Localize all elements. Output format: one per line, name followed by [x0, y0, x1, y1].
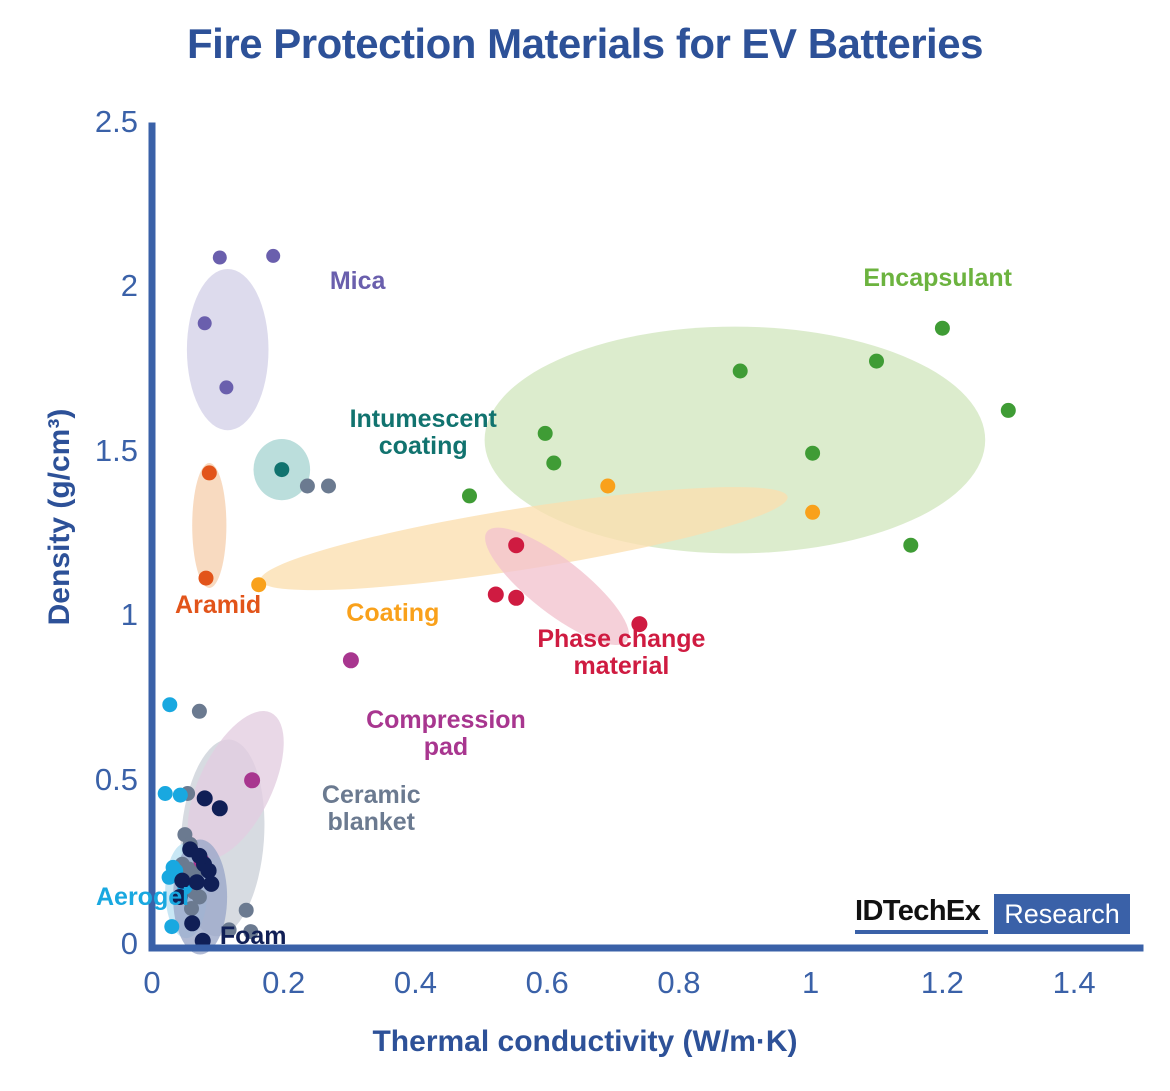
data-point[interactable] — [1001, 403, 1016, 418]
data-point[interactable] — [805, 505, 820, 520]
data-point[interactable] — [546, 456, 561, 471]
cluster-ellipse — [192, 463, 226, 588]
cluster-label-compression-pad: Compressionpad — [366, 707, 526, 761]
data-point[interactable] — [162, 697, 177, 712]
data-point[interactable] — [201, 863, 217, 879]
data-point[interactable] — [935, 321, 950, 336]
logo-brand-text: IDTechEx — [855, 894, 988, 934]
data-point[interactable] — [239, 903, 254, 918]
data-point[interactable] — [158, 786, 173, 801]
data-point[interactable] — [600, 479, 615, 494]
data-point[interactable] — [212, 800, 228, 816]
x-axis-tick: 0.8 — [629, 965, 729, 1001]
cluster-label-intumescent-coating: Intumescentcoating — [350, 406, 497, 460]
y-axis-tick: 2 — [20, 268, 138, 304]
cluster-label-line: blanket — [322, 809, 421, 836]
x-axis-tick: 1.2 — [892, 965, 992, 1001]
cluster-label-line: Ceramic — [322, 782, 421, 809]
cluster-label-foam: Foam — [220, 923, 287, 950]
cluster-label-aerogel: Aerogel — [96, 884, 189, 911]
x-axis-tick: 1.4 — [1024, 965, 1124, 1001]
cluster-label-line: coating — [350, 433, 497, 460]
cluster-label-line: Coating — [346, 600, 439, 627]
data-point[interactable] — [343, 652, 359, 668]
cluster-label-line: material — [537, 653, 705, 680]
x-axis-tick: 1 — [761, 965, 861, 1001]
idtechex-logo: IDTechEx Research — [855, 894, 1130, 934]
y-axis-tick: 0.5 — [20, 762, 138, 798]
cluster-label-line: Mica — [330, 268, 386, 295]
chart-root: Fire Protection Materials for EV Batteri… — [0, 0, 1170, 1091]
x-axis-tick: 0 — [102, 965, 202, 1001]
y-axis-tick: 1 — [20, 597, 138, 633]
logo-product-badge: Research — [994, 894, 1130, 934]
data-point[interactable] — [266, 249, 280, 263]
cluster-label-line: Aerogel — [96, 884, 189, 911]
cluster-label-line: Phase change — [537, 626, 705, 653]
cluster-label-line: pad — [366, 734, 526, 761]
data-point[interactable] — [488, 587, 504, 603]
cluster-label-line: Foam — [220, 923, 287, 950]
cluster-label-line: Intumescent — [350, 406, 497, 433]
data-point[interactable] — [805, 446, 820, 461]
y-axis-tick: 2.5 — [20, 104, 138, 140]
x-axis-tick: 0.4 — [365, 965, 465, 1001]
data-point[interactable] — [199, 571, 214, 586]
data-point[interactable] — [203, 876, 219, 892]
data-point[interactable] — [869, 354, 884, 369]
data-point[interactable] — [219, 380, 233, 394]
data-point[interactable] — [173, 788, 188, 803]
data-point[interactable] — [538, 426, 553, 441]
data-point[interactable] — [508, 590, 524, 606]
x-axis-title: Thermal conductivity (W/m·K) — [0, 1025, 1170, 1059]
data-point[interactable] — [184, 915, 200, 931]
cluster-label-line: Aramid — [175, 592, 261, 619]
x-axis-tick: 0.2 — [234, 965, 334, 1001]
cluster-ellipse — [187, 269, 269, 430]
data-point[interactable] — [164, 919, 179, 934]
cluster-label-ceramic-blanket: Ceramicblanket — [322, 782, 421, 836]
data-point[interactable] — [300, 479, 315, 494]
data-point[interactable] — [462, 488, 477, 503]
data-point[interactable] — [251, 577, 266, 592]
cluster-label-line: Compression — [366, 707, 526, 734]
cluster-label-aramid: Aramid — [175, 592, 261, 619]
cluster-label-coating: Coating — [346, 600, 439, 627]
data-point[interactable] — [903, 538, 918, 553]
x-axis-tick: 0.6 — [497, 965, 597, 1001]
cluster-label-phase-change-material: Phase changematerial — [537, 626, 705, 680]
cluster-label-mica: Mica — [330, 268, 386, 295]
data-point[interactable] — [244, 772, 260, 788]
cluster-label-line: Encapsulant — [863, 265, 1012, 292]
data-point[interactable] — [197, 790, 213, 806]
cluster-label-encapsulant: Encapsulant — [863, 265, 1012, 292]
y-axis-title: Density (g/cm³) — [43, 337, 77, 697]
data-point[interactable] — [189, 874, 205, 890]
y-axis-tick: 0 — [20, 926, 138, 962]
data-point[interactable] — [202, 465, 217, 480]
data-point[interactable] — [198, 316, 212, 330]
y-axis-tick: 1.5 — [20, 433, 138, 469]
data-point[interactable] — [508, 537, 524, 553]
data-point[interactable] — [274, 462, 289, 477]
cluster-ellipse-layer — [165, 269, 985, 955]
data-point[interactable] — [192, 704, 207, 719]
data-point[interactable] — [733, 364, 748, 379]
data-point[interactable] — [321, 479, 336, 494]
data-point[interactable] — [213, 251, 227, 265]
